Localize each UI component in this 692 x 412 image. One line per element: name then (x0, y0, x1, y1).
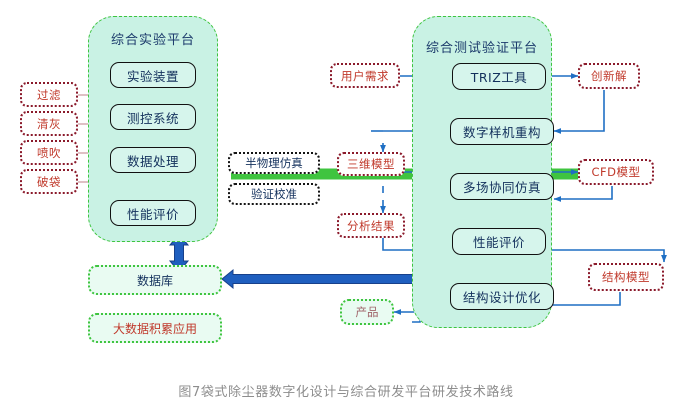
left-step-4[interactable]: 性能评价 (110, 200, 196, 226)
database-box[interactable]: 数据库 (88, 265, 222, 295)
left-input-bag-rupture[interactable]: 破袋 (20, 169, 78, 194)
bridge-label-verification: 验证校准 (228, 183, 320, 205)
bigdata-box[interactable]: 大数据积累应用 (88, 313, 222, 343)
left-step-3[interactable]: 数据处理 (110, 147, 196, 173)
left-input-filtration[interactable]: 过滤 (20, 82, 78, 107)
right-step-2[interactable]: 数字样机重构 (450, 118, 554, 145)
right-step-4[interactable]: 性能评价 (452, 228, 546, 255)
left-input-connectors (78, 95, 88, 182)
left-input-dust-cleaning[interactable]: 清灰 (20, 111, 78, 136)
left-step-2[interactable]: 测控系统 (110, 104, 196, 130)
right-output-innovative-solution[interactable]: 创新解 (578, 63, 640, 89)
left-platform-title: 综合实验平台 (88, 29, 218, 48)
right-step-1[interactable]: TRIZ工具 (452, 63, 546, 90)
right-platform-title: 综合测试验证平台 (412, 37, 552, 56)
figure-canvas: 综合实验平台 实验装置 测控系统 数据处理 性能评价 过滤 清灰 喷吹 破袋 半… (0, 0, 692, 412)
middle-label-3d-model[interactable]: 三维模型 (337, 152, 405, 176)
left-input-pulse-jet[interactable]: 喷吹 (20, 140, 78, 165)
middle-label-analysis-result[interactable]: 分析结果 (337, 213, 405, 238)
right-input-user-requirement[interactable]: 用户需求 (330, 63, 400, 88)
right-step-3[interactable]: 多场协同仿真 (450, 173, 554, 200)
right-output-structure-model[interactable]: 结构模型 (588, 263, 664, 291)
right-output-cfd-model[interactable]: CFD模型 (578, 159, 654, 185)
bridge-label-semi-physical: 半物理仿真 (228, 152, 320, 174)
left-step-1[interactable]: 实验装置 (110, 62, 196, 88)
right-step-5[interactable]: 结构设计优化 (450, 283, 554, 310)
product-box[interactable]: 产品 (340, 299, 394, 325)
